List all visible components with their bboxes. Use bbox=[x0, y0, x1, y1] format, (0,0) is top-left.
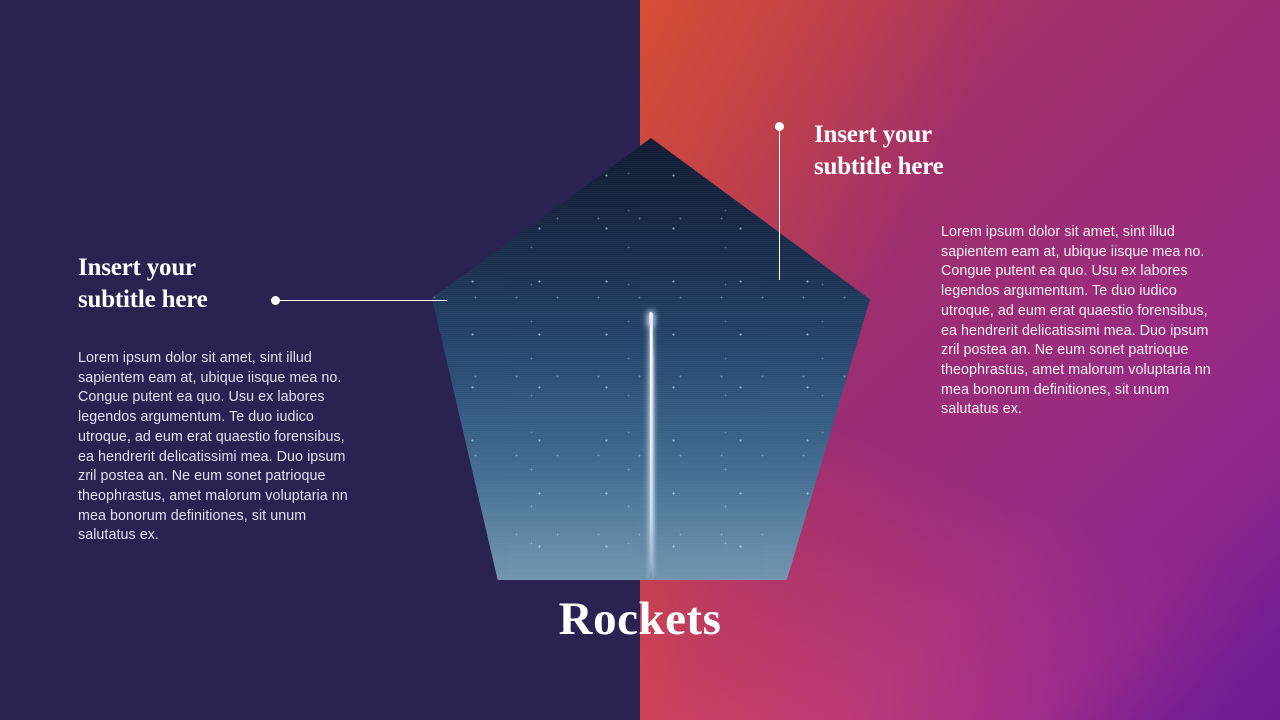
rocket-icon bbox=[649, 312, 652, 324]
callout-right-body: Lorem ipsum dolor sit amet, sint illud s… bbox=[941, 223, 1219, 420]
callout-right-subtitle: Insert your subtitle here bbox=[814, 119, 1074, 183]
callout-left-body: Lorem ipsum dolor sit amet, sint illud s… bbox=[78, 349, 354, 546]
callout-right-subtitle-line1: Insert your bbox=[814, 119, 1074, 151]
slide-canvas: Insert your subtitle here Lorem ipsum do… bbox=[0, 0, 1280, 720]
callout-left-connector-line bbox=[279, 300, 447, 302]
callout-left-subtitle: Insert your subtitle here bbox=[78, 252, 338, 316]
rocket-contrail-secondary bbox=[653, 332, 655, 575]
slide-title: Rockets bbox=[0, 592, 1280, 646]
callout-left-subtitle-line1: Insert your bbox=[78, 252, 338, 284]
callout-right-connector-line bbox=[779, 130, 781, 280]
callout-right-subtitle-line2: subtitle here bbox=[814, 151, 1074, 183]
